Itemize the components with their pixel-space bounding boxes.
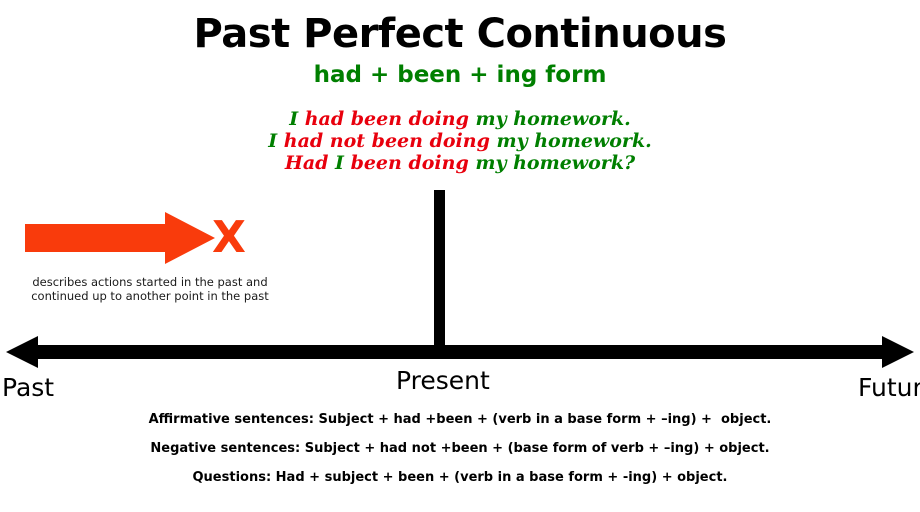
sentence-segment-green: my homework.	[496, 130, 651, 152]
past-description-caption: describes actions started in the past an…	[20, 275, 280, 303]
past-endpoint-x-icon: X	[206, 215, 252, 261]
timeline-label-present: Present	[396, 368, 490, 393]
timeline-label-future: Future	[858, 375, 920, 400]
formula-negative: Negative sentences: Subject + had not +b…	[0, 442, 920, 455]
timeline-axis	[0, 336, 920, 368]
present-tick-mark	[434, 190, 445, 352]
formula-questions: Questions: Had + subject + been + (verb …	[0, 471, 920, 484]
sentence-segment-green: I	[289, 108, 305, 130]
example-sentences: I had been doing my homework.I had not b…	[0, 108, 920, 174]
sentence-segment-green: I	[268, 130, 284, 152]
example-sentence: Had I been doing my homework?	[0, 152, 920, 174]
timeline-label-past: Past	[2, 375, 54, 400]
sentence-segment-green: I	[335, 152, 351, 174]
sentence-segment-red: Had	[285, 152, 335, 174]
sentence-segment-red: had been doing	[305, 108, 476, 130]
formula-affirmative: Affirmative sentences: Subject + had +be…	[0, 413, 920, 426]
past-perfect-continuous-diagram: Past Perfect Continuous had + been + ing…	[0, 0, 920, 512]
sentence-segment-red: been doing	[351, 152, 476, 174]
example-sentence: I had been doing my homework.	[0, 108, 920, 130]
sentence-segment-green: my homework?	[475, 152, 635, 174]
past-duration-arrow	[25, 212, 215, 264]
example-sentence: I had not been doing my homework.	[0, 130, 920, 152]
formula-subtitle: had + been + ing form	[0, 64, 920, 87]
sentence-segment-green: my homework.	[476, 108, 631, 130]
page-title: Past Perfect Continuous	[0, 14, 920, 54]
sentence-segment-red: had not been doing	[284, 130, 497, 152]
